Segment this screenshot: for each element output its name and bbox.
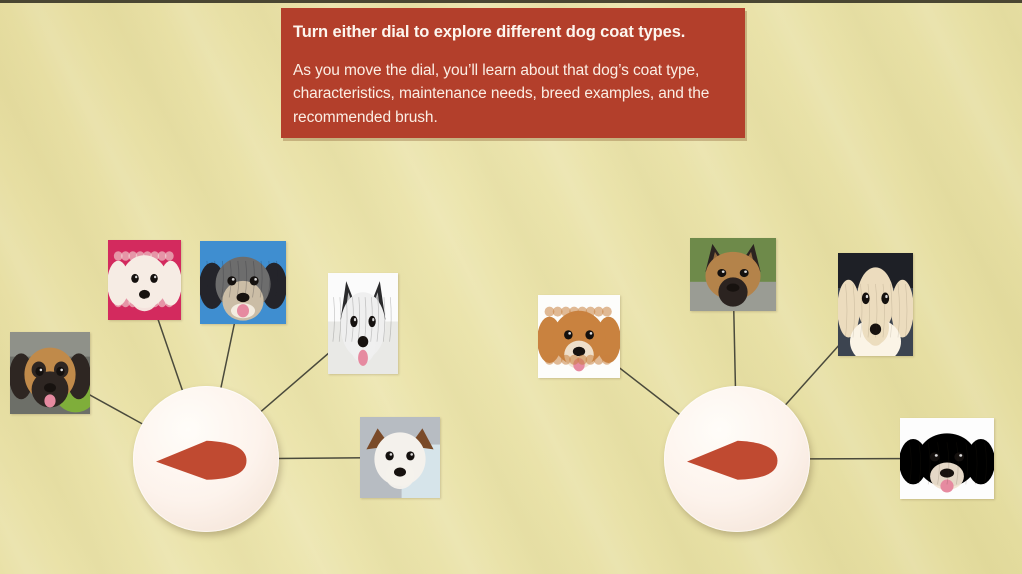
left-dial-pointer[interactable] <box>156 439 247 484</box>
top-rule-divider <box>0 0 1022 3</box>
dog-thumbnail-poodle[interactable] <box>108 240 181 320</box>
instruction-body: As you move the dial, you’ll learn about… <box>293 59 725 130</box>
right-dial-pointer[interactable] <box>687 439 778 484</box>
dog-thumbnail-german-shepherd[interactable] <box>690 238 776 311</box>
slide-canvas: Turn either dial to explore different do… <box>0 0 1022 574</box>
left-dial[interactable] <box>133 386 279 532</box>
instruction-banner: Turn either dial to explore different do… <box>281 8 745 138</box>
instruction-title: Turn either dial to explore different do… <box>293 22 725 43</box>
dog-thumbnail-schnauzer[interactable] <box>200 241 286 324</box>
dog-thumbnail-afghan-hound[interactable] <box>838 253 913 356</box>
dog-thumbnail-husky[interactable] <box>328 273 398 374</box>
dog-thumbnail-golden-retriever[interactable] <box>900 418 994 499</box>
dog-thumbnail-jack-russell[interactable] <box>360 417 440 498</box>
right-dial[interactable] <box>664 386 810 532</box>
dog-thumbnail-boxer[interactable] <box>10 332 90 414</box>
dog-thumbnail-goldendoodle[interactable] <box>538 295 620 378</box>
